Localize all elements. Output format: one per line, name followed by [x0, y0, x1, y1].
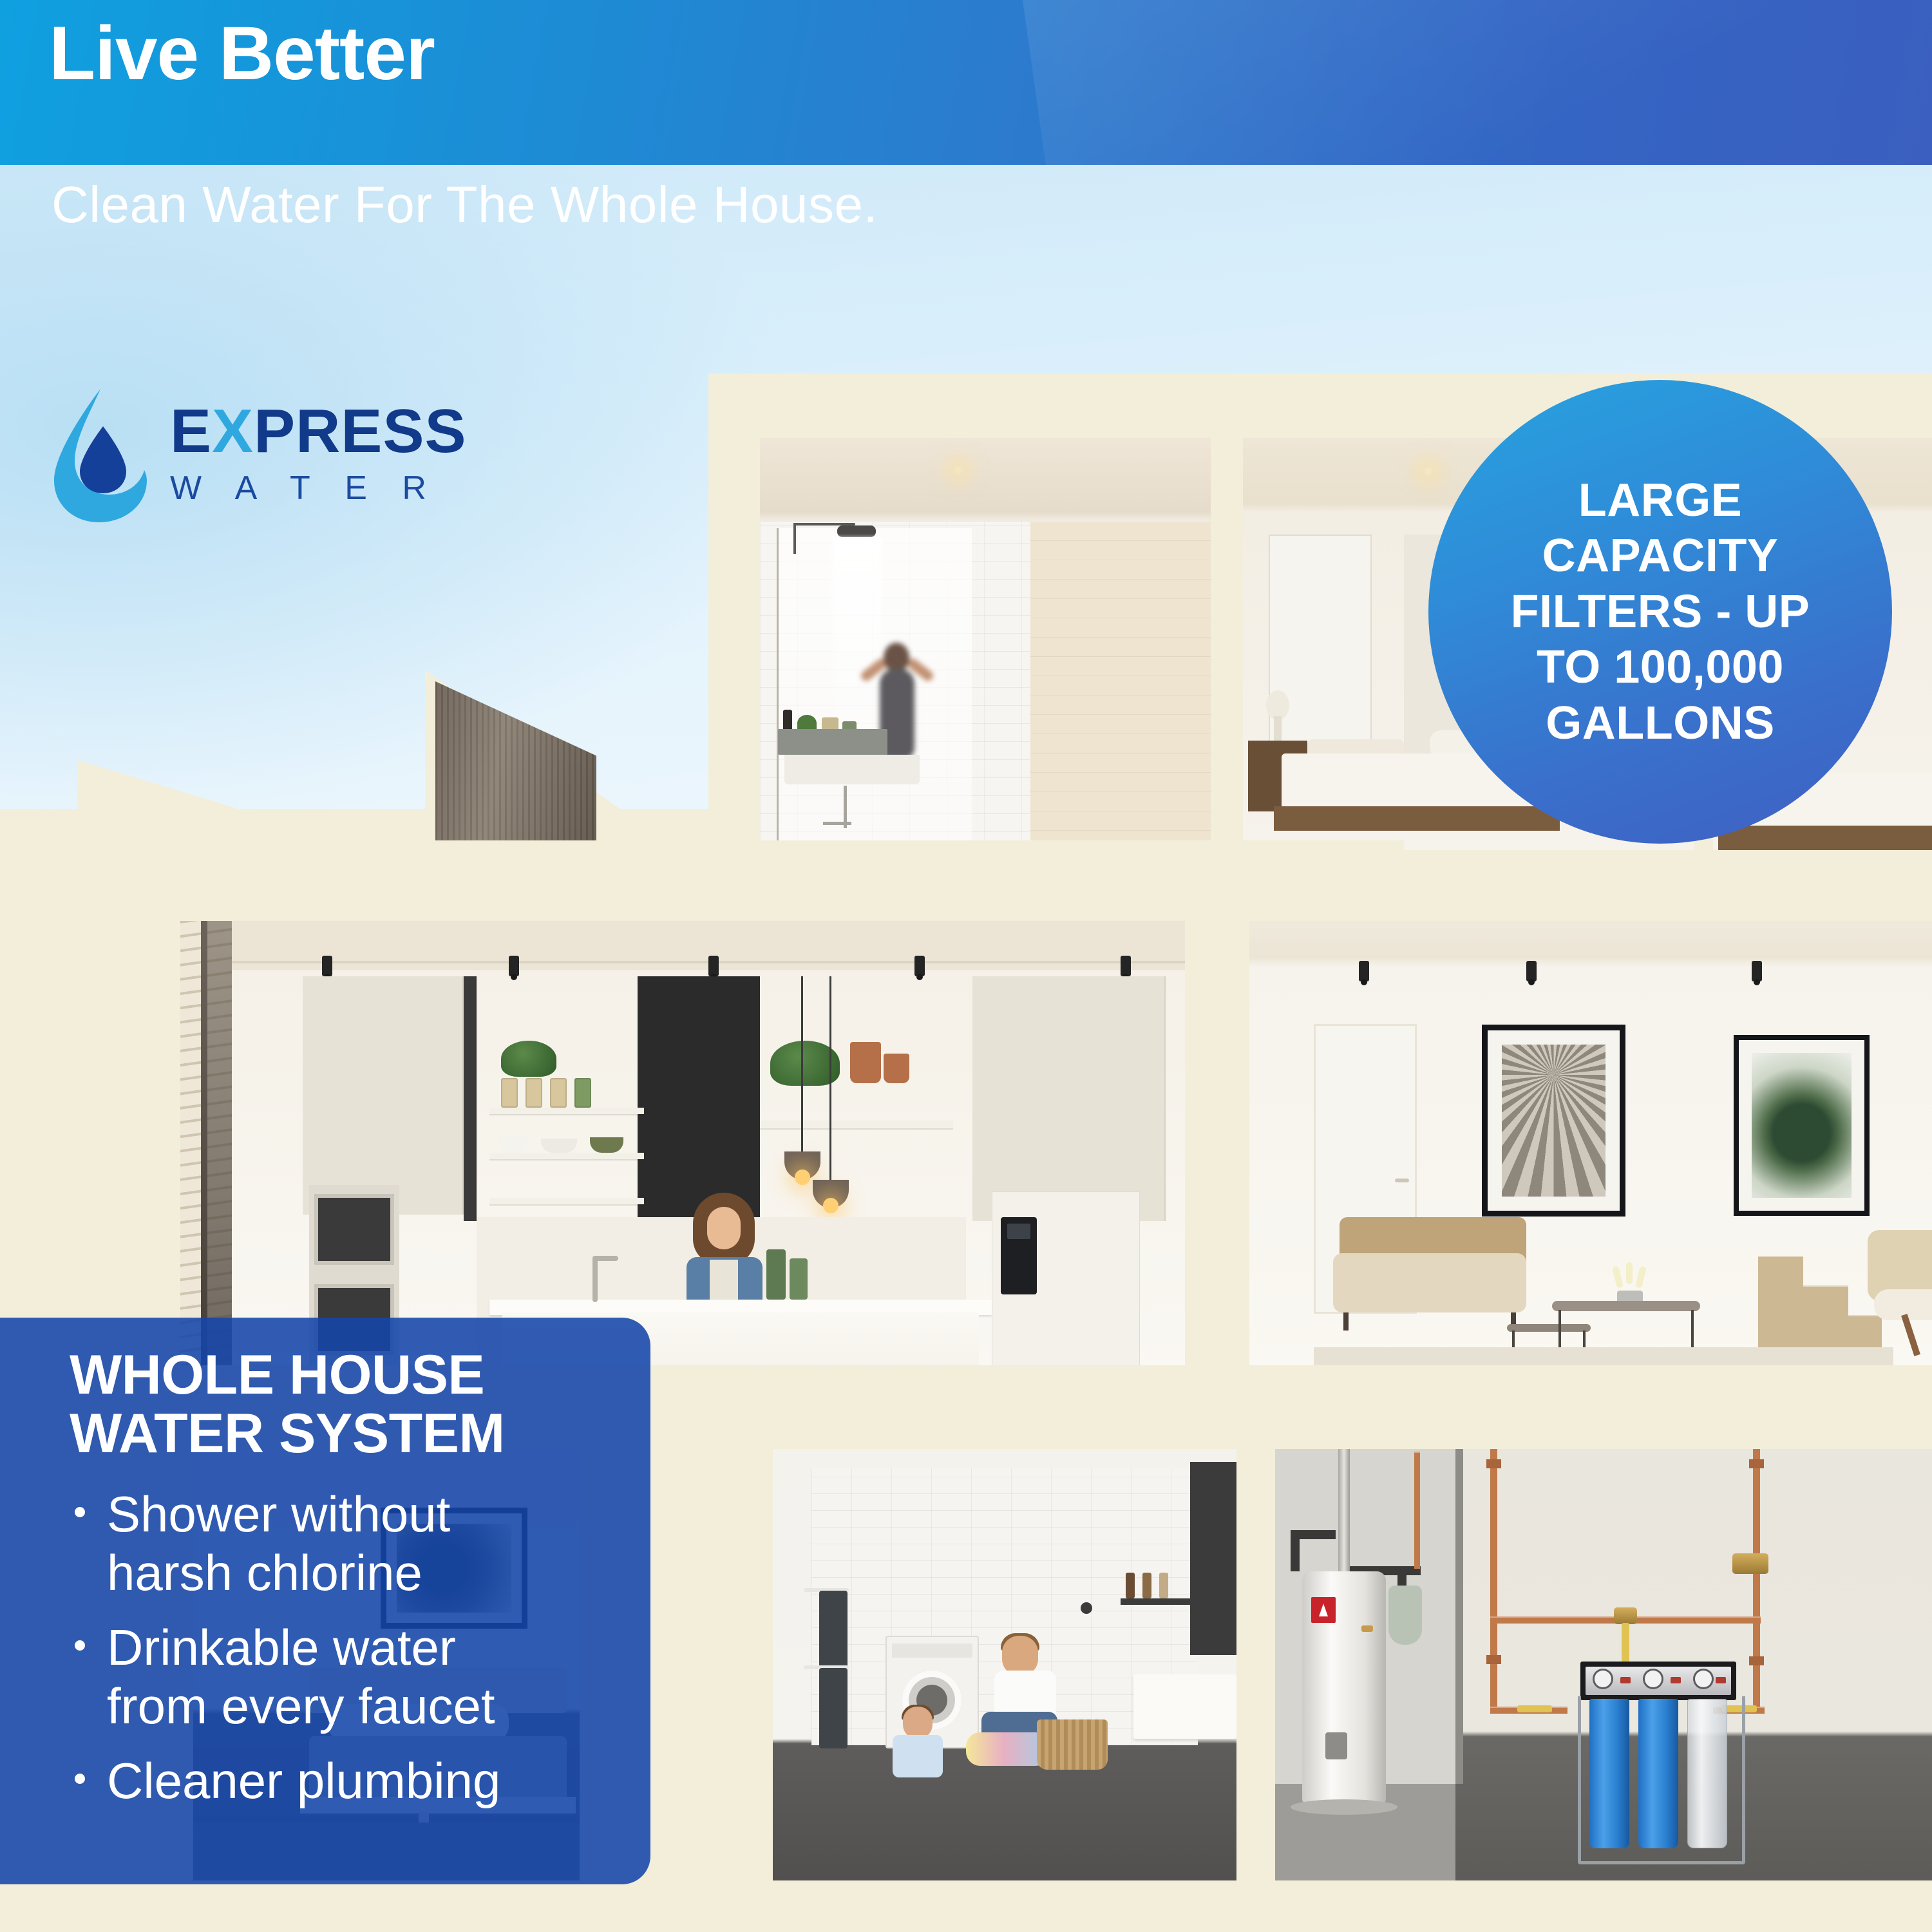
kitchen-faucet	[592, 1256, 598, 1302]
page-subtitle: Clean Water For The Whole House.	[52, 179, 878, 231]
upper-end-wall	[708, 374, 760, 850]
list-item: Drinkable water from every faucet	[70, 1618, 627, 1735]
spotlight-icon	[708, 956, 719, 976]
person-child	[889, 1707, 953, 1784]
pressure-regulator	[1732, 1553, 1768, 1574]
heater-control	[1325, 1732, 1347, 1759]
shower-pipe	[793, 523, 796, 554]
open-shelf	[760, 1121, 953, 1128]
pipe-coupling	[1749, 1459, 1764, 1468]
wall-divider	[1455, 1423, 1463, 1784]
spice-jar	[550, 1078, 567, 1108]
shower-head-icon	[837, 526, 876, 537]
spotlight-icon	[1752, 961, 1762, 981]
bowl	[498, 1136, 528, 1153]
vase	[850, 1042, 881, 1083]
water-droplet-icon	[50, 386, 153, 525]
main-ceiling-slab	[180, 840, 1404, 921]
spotlight-icon	[1526, 961, 1537, 981]
heater-drip-pan	[1291, 1799, 1397, 1815]
list-item: Shower without harsh chlorine	[70, 1485, 627, 1602]
poster-root: Live Better Clean Water For The Whole Ho…	[0, 0, 1932, 1932]
copper-pipe	[1490, 1404, 1497, 1713]
open-shelf	[489, 1108, 644, 1114]
vanity-basin	[784, 755, 920, 784]
pressure-relief-button	[1671, 1677, 1681, 1683]
plate-stack	[541, 1139, 577, 1153]
feature-panel-title: WHOLE HOUSE WATER SYSTEM	[70, 1346, 627, 1463]
plant-icon	[501, 1041, 556, 1077]
laundry-basket	[1037, 1719, 1108, 1770]
gas-pipe	[1291, 1530, 1300, 1571]
wall-column	[1190, 1462, 1236, 1655]
spotlight-icon	[322, 956, 332, 976]
feature-list: Shower without harsh chlorine Drinkable …	[70, 1485, 627, 1810]
room-bathroom	[760, 438, 1211, 850]
pendant-light	[829, 976, 831, 1182]
brand-wordmark: EXPRESS W A T E R	[170, 401, 467, 505]
brand-logo[interactable]: EXPRESS W A T E R	[50, 386, 501, 535]
room-living	[1249, 914, 1932, 1391]
valve-handle	[1517, 1705, 1552, 1712]
vanity-shelf	[778, 729, 887, 755]
framed-artwork	[1488, 1030, 1620, 1211]
pressure-relief-button	[1620, 1677, 1631, 1683]
toiletry-shelf	[1121, 1598, 1191, 1605]
ceiling-light-icon	[1423, 466, 1434, 477]
pipe-coupling	[1486, 1655, 1501, 1664]
kitchen-tall-cabinet	[972, 976, 1166, 1221]
basement-partition-wall	[1236, 1449, 1275, 1932]
bathroom-side-wall	[1030, 522, 1211, 850]
spotlight-icon	[1121, 956, 1131, 976]
pendant-light	[801, 976, 803, 1154]
valve-handle	[1622, 1623, 1629, 1663]
pipe-coupling	[1486, 1459, 1501, 1468]
water-dispenser-icon	[1001, 1217, 1037, 1294]
expansion-tank	[1388, 1586, 1422, 1645]
feature-panel: WHOLE HOUSE WATER SYSTEM Shower without …	[0, 1318, 650, 1884]
cabinet-gap	[464, 976, 477, 1221]
pipe-coupling	[1749, 1656, 1764, 1665]
pressure-gauge-icon	[1695, 1671, 1712, 1687]
spice-jar	[501, 1078, 518, 1108]
whole-house-filter-system	[1584, 1662, 1732, 1874]
spice-jar	[574, 1078, 591, 1108]
basement-ceiling-slab	[1249, 1378, 1932, 1417]
range-hood	[638, 976, 760, 1221]
shelf-toiletries	[783, 706, 867, 732]
spotlight-icon	[914, 956, 925, 976]
refrigerator	[992, 1191, 1140, 1391]
wall-hook-icon	[1081, 1602, 1092, 1614]
shutoff-valve	[1614, 1607, 1637, 1624]
pressure-relief-button	[1716, 1677, 1726, 1683]
brand-name-secondary: W A T E R	[170, 471, 467, 505]
sofa	[1333, 1217, 1526, 1333]
open-shelf	[489, 1198, 644, 1204]
armchair	[1868, 1230, 1932, 1359]
bathroom-sink	[1133, 1674, 1236, 1739]
open-shelf	[489, 1153, 644, 1159]
heater-valve	[1361, 1625, 1373, 1632]
bottle	[790, 1258, 808, 1300]
vase	[884, 1054, 909, 1083]
pressure-gauge-icon	[1595, 1671, 1611, 1687]
capacity-badge-text: LARGE CAPACITY FILTERS - UP TO 100,000 G…	[1511, 473, 1810, 751]
kitchen-tall-cabinet	[303, 976, 464, 1215]
main-partition-wall	[1185, 914, 1249, 1391]
warning-label-icon	[1311, 1597, 1336, 1623]
pressure-gauge-icon	[1645, 1671, 1662, 1687]
spice-jar	[526, 1078, 542, 1108]
room-laundry	[773, 1449, 1236, 1932]
spotlight-icon	[1359, 961, 1369, 981]
water-heater	[1302, 1571, 1386, 1803]
capacity-badge: LARGE CAPACITY FILTERS - UP TO 100,000 G…	[1428, 380, 1892, 844]
header-banner: Live Better	[0, 0, 1932, 165]
bowl	[590, 1137, 623, 1153]
towel	[819, 1591, 848, 1671]
brand-name-primary: EXPRESS	[170, 401, 467, 462]
framed-artwork	[1739, 1040, 1864, 1211]
filter-stand-frame	[1578, 1696, 1745, 1864]
spotlight-icon	[509, 956, 519, 976]
foundation-slab	[180, 1880, 1932, 1932]
list-item: Cleaner plumbing	[70, 1752, 627, 1810]
ceiling-light-icon	[953, 465, 963, 475]
upper-partition-wall	[1211, 438, 1243, 850]
bottle	[766, 1249, 786, 1300]
copper-pipe	[1414, 1452, 1420, 1569]
towel	[819, 1668, 848, 1748]
faucet-spout	[823, 822, 851, 825]
page-title: Live Better	[49, 15, 435, 91]
room-utility	[1262, 1404, 1932, 1932]
